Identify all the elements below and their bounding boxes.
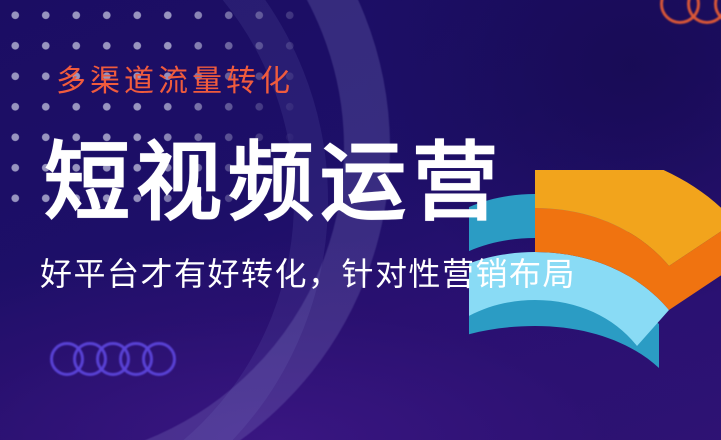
- 3d-donut-chart: [469, 170, 721, 440]
- promo-banner: 多渠道流量转化 短视频运营 好平台才有好转化，针对性营销布局: [0, 0, 721, 440]
- banner-kicker: 多渠道流量转化: [56, 67, 294, 97]
- banner-headline: 短视频运营: [44, 140, 504, 226]
- banner-subline: 好平台才有好转化，针对性营销布局: [40, 258, 576, 290]
- purple-ring-icon: [142, 342, 176, 376]
